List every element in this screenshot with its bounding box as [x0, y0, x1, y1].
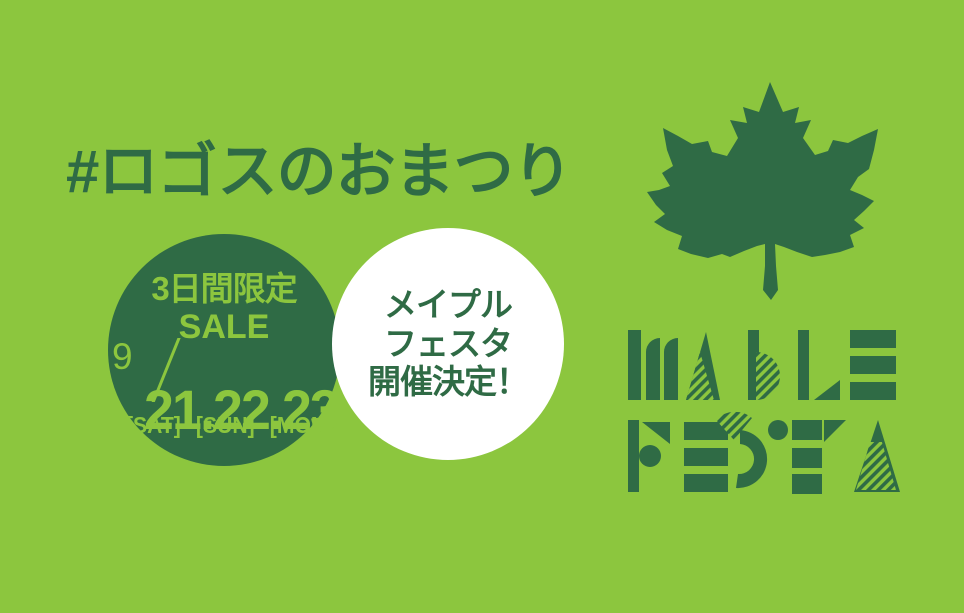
day-of-week-sun: [SUN] [196, 412, 255, 438]
logotype-maple [628, 330, 896, 412]
maple-leaf-icon [626, 78, 916, 306]
promo-banner: #ロゴスのおまつり 3日間限定 SALE 9 21.22.23 [SAT] [S… [0, 0, 964, 613]
day-of-week-sat: [SAT] [126, 412, 181, 438]
sale-limited-label: 3日間限定 [108, 272, 340, 305]
logotype-festa [628, 412, 908, 502]
day-of-week-mon: [MON] [270, 412, 333, 438]
sale-badge: 3日間限定 SALE 9 21.22.23 [SAT] [SUN] [MON] [108, 234, 340, 466]
announcement-badge: メイプル フェスタ 開催決定！ [332, 228, 564, 460]
announcement-line-1: メイプル [384, 286, 512, 325]
sale-day-of-week: [SAT] [SUN] [MON] [126, 414, 323, 437]
sale-month: 9 [112, 338, 133, 375]
announcement-line-3: 開催決定！ [368, 363, 528, 402]
page-title: #ロゴスのおまつり [66, 142, 572, 202]
announcement-line-2: フェスタ [384, 325, 512, 364]
maple-festa-logotype [628, 322, 918, 502]
